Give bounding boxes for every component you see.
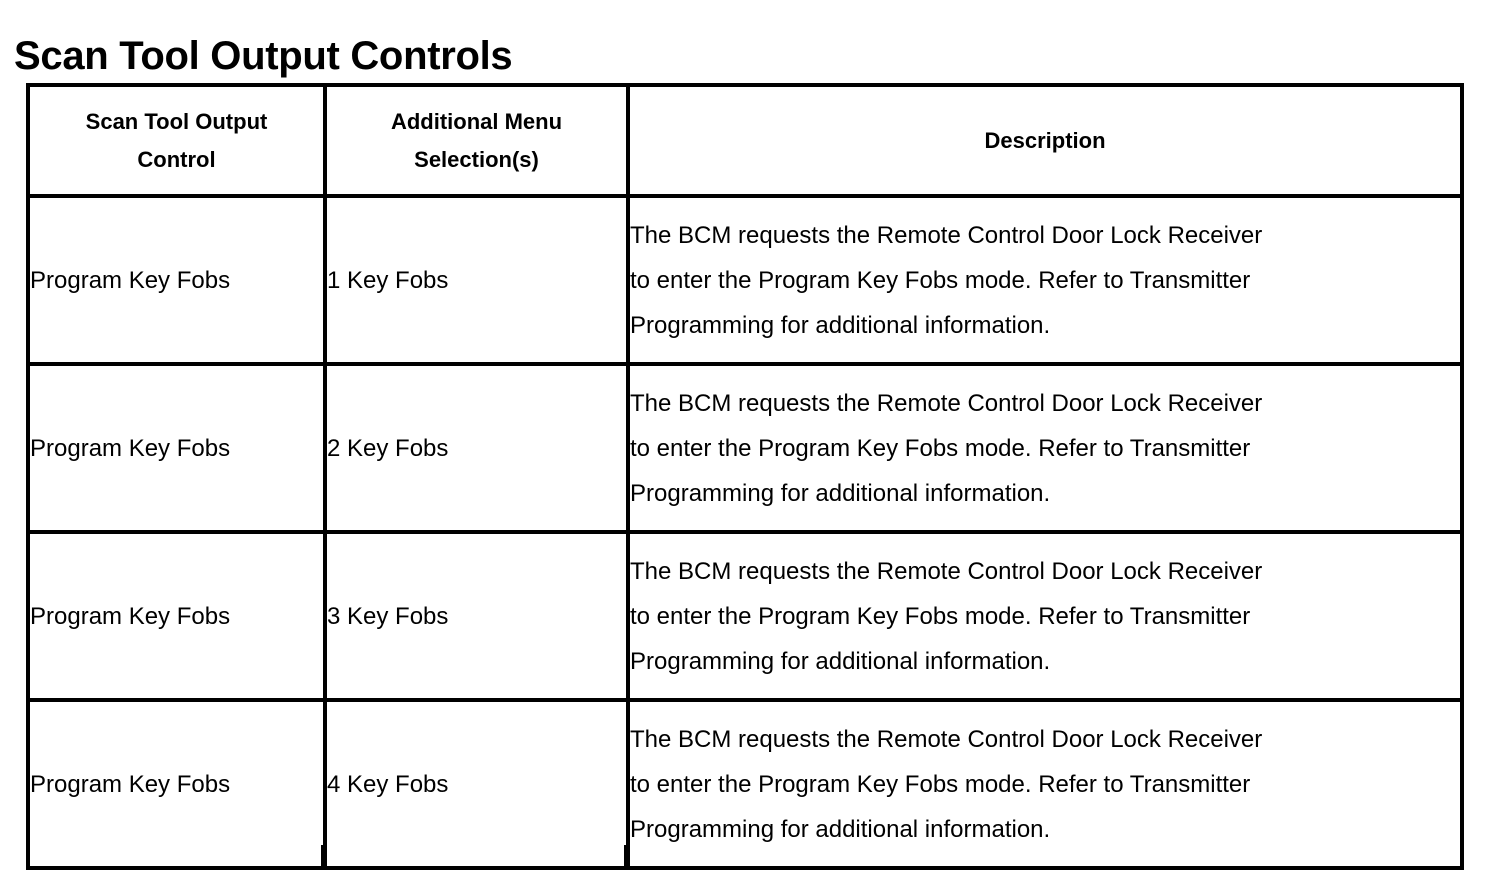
column-header-line: Selection(s) (337, 141, 616, 179)
description-line: Programming for additional information. (630, 807, 1460, 852)
column-header-line: Scan Tool Output (40, 103, 313, 141)
table-row: Program Key Fobs 2 Key Fobs The BCM requ… (28, 364, 1462, 532)
document-page: Scan Tool Output Controls Scan Tool Outp… (0, 0, 1504, 870)
cell-description: The BCM requests the Remote Control Door… (628, 196, 1462, 364)
table-body: Program Key Fobs 1 Key Fobs The BCM requ… (28, 196, 1462, 868)
description-line: The BCM requests the Remote Control Door… (630, 549, 1460, 594)
description-line: to enter the Program Key Fobs mode. Refe… (630, 594, 1460, 639)
description-line: The BCM requests the Remote Control Door… (630, 717, 1460, 762)
cell-scan-tool-output-control: Program Key Fobs (28, 532, 325, 700)
column-header-line: Additional Menu (337, 103, 616, 141)
table-column2-rule-overflow (624, 845, 628, 870)
description-line: The BCM requests the Remote Control Door… (630, 213, 1460, 258)
cell-scan-tool-output-control: Program Key Fobs (28, 196, 325, 364)
description-line: to enter the Program Key Fobs mode. Refe… (630, 762, 1460, 807)
cell-additional-menu-selection: 4 Key Fobs (325, 700, 628, 868)
cell-scan-tool-output-control: Program Key Fobs (28, 364, 325, 532)
cell-description: The BCM requests the Remote Control Door… (628, 700, 1462, 868)
description-line: to enter the Program Key Fobs mode. Refe… (630, 426, 1460, 471)
column-header-line: Control (40, 141, 313, 179)
table-row: Program Key Fobs 3 Key Fobs The BCM requ… (28, 532, 1462, 700)
column-header-additional-menu-selections: Additional Menu Selection(s) (325, 85, 628, 196)
description-line: Programming for additional information. (630, 639, 1460, 684)
cell-additional-menu-selection: 1 Key Fobs (325, 196, 628, 364)
table-row: Program Key Fobs 4 Key Fobs The BCM requ… (28, 700, 1462, 868)
description-line: Programming for additional information. (630, 471, 1460, 516)
description-line: The BCM requests the Remote Control Door… (630, 381, 1460, 426)
cell-description: The BCM requests the Remote Control Door… (628, 532, 1462, 700)
table-row: Program Key Fobs 1 Key Fobs The BCM requ… (28, 196, 1462, 364)
description-line: Programming for additional information. (630, 303, 1460, 348)
table-header-row: Scan Tool Output Control Additional Menu… (28, 85, 1462, 196)
column-header-description: Description (628, 85, 1462, 196)
page-title: Scan Tool Output Controls (14, 32, 512, 80)
cell-additional-menu-selection: 3 Key Fobs (325, 532, 628, 700)
cell-scan-tool-output-control: Program Key Fobs (28, 700, 325, 868)
table-left-rule-overflow (26, 845, 30, 870)
description-line: to enter the Program Key Fobs mode. Refe… (630, 258, 1460, 303)
column-header-scan-tool-output-control: Scan Tool Output Control (28, 85, 325, 196)
column-header-line: Description (640, 122, 1450, 160)
cell-description: The BCM requests the Remote Control Door… (628, 364, 1462, 532)
table-header: Scan Tool Output Control Additional Menu… (28, 85, 1462, 196)
table-column1-rule-overflow (321, 845, 325, 870)
scan-tool-output-controls-table: Scan Tool Output Control Additional Menu… (26, 83, 1464, 870)
cell-additional-menu-selection: 2 Key Fobs (325, 364, 628, 532)
